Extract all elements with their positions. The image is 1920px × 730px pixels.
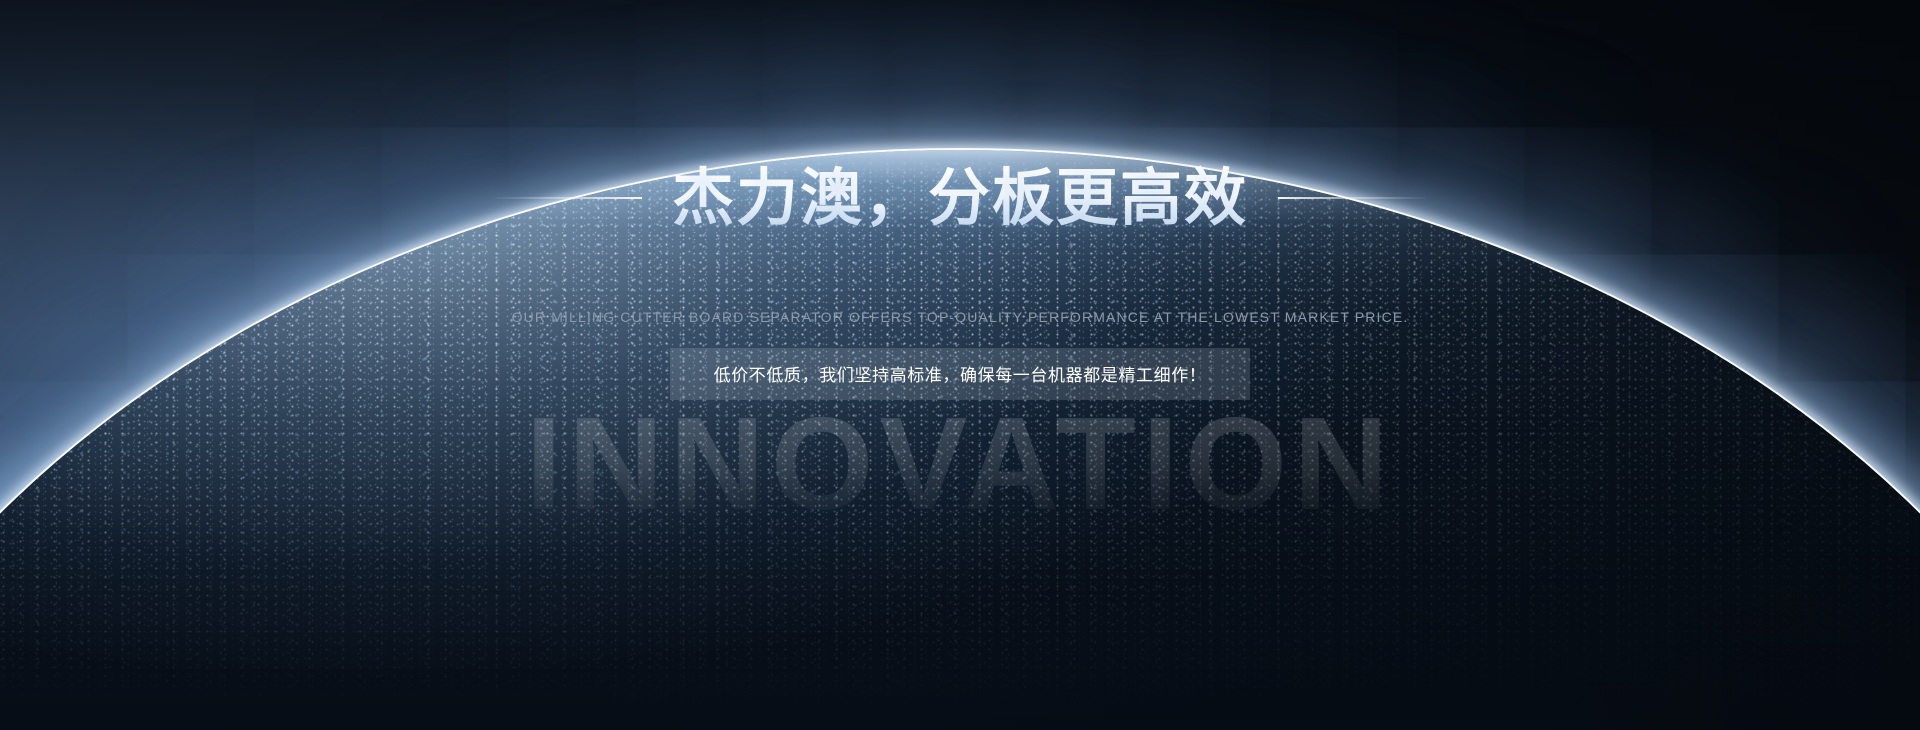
tagline-row: 低价不低质，我们坚持高标准，确保每一台机器都是精工细作！ [0, 348, 1920, 400]
innovation-watermark: INNOVATION [0, 398, 1920, 530]
tagline-banner: 低价不低质，我们坚持高标准，确保每一台机器都是精工细作！ [670, 348, 1251, 400]
hero-banner: INNOVATION 杰力澳，分板更高效 OUR MILLING CUTTER … [0, 0, 1920, 730]
hero-content: 杰力澳，分板更高效 OUR MILLING CUTTER BOARD SEPAR… [0, 0, 1920, 400]
title-row: 杰力澳，分板更高效 [0, 122, 1920, 275]
page-title: 杰力澳，分板更高效 [672, 164, 1248, 233]
title-rule-right-icon [1278, 197, 1426, 199]
title-rule-left-icon [494, 197, 642, 199]
page-subtitle: OUR MILLING CUTTER BOARD SEPARATOR OFFER… [0, 309, 1920, 325]
